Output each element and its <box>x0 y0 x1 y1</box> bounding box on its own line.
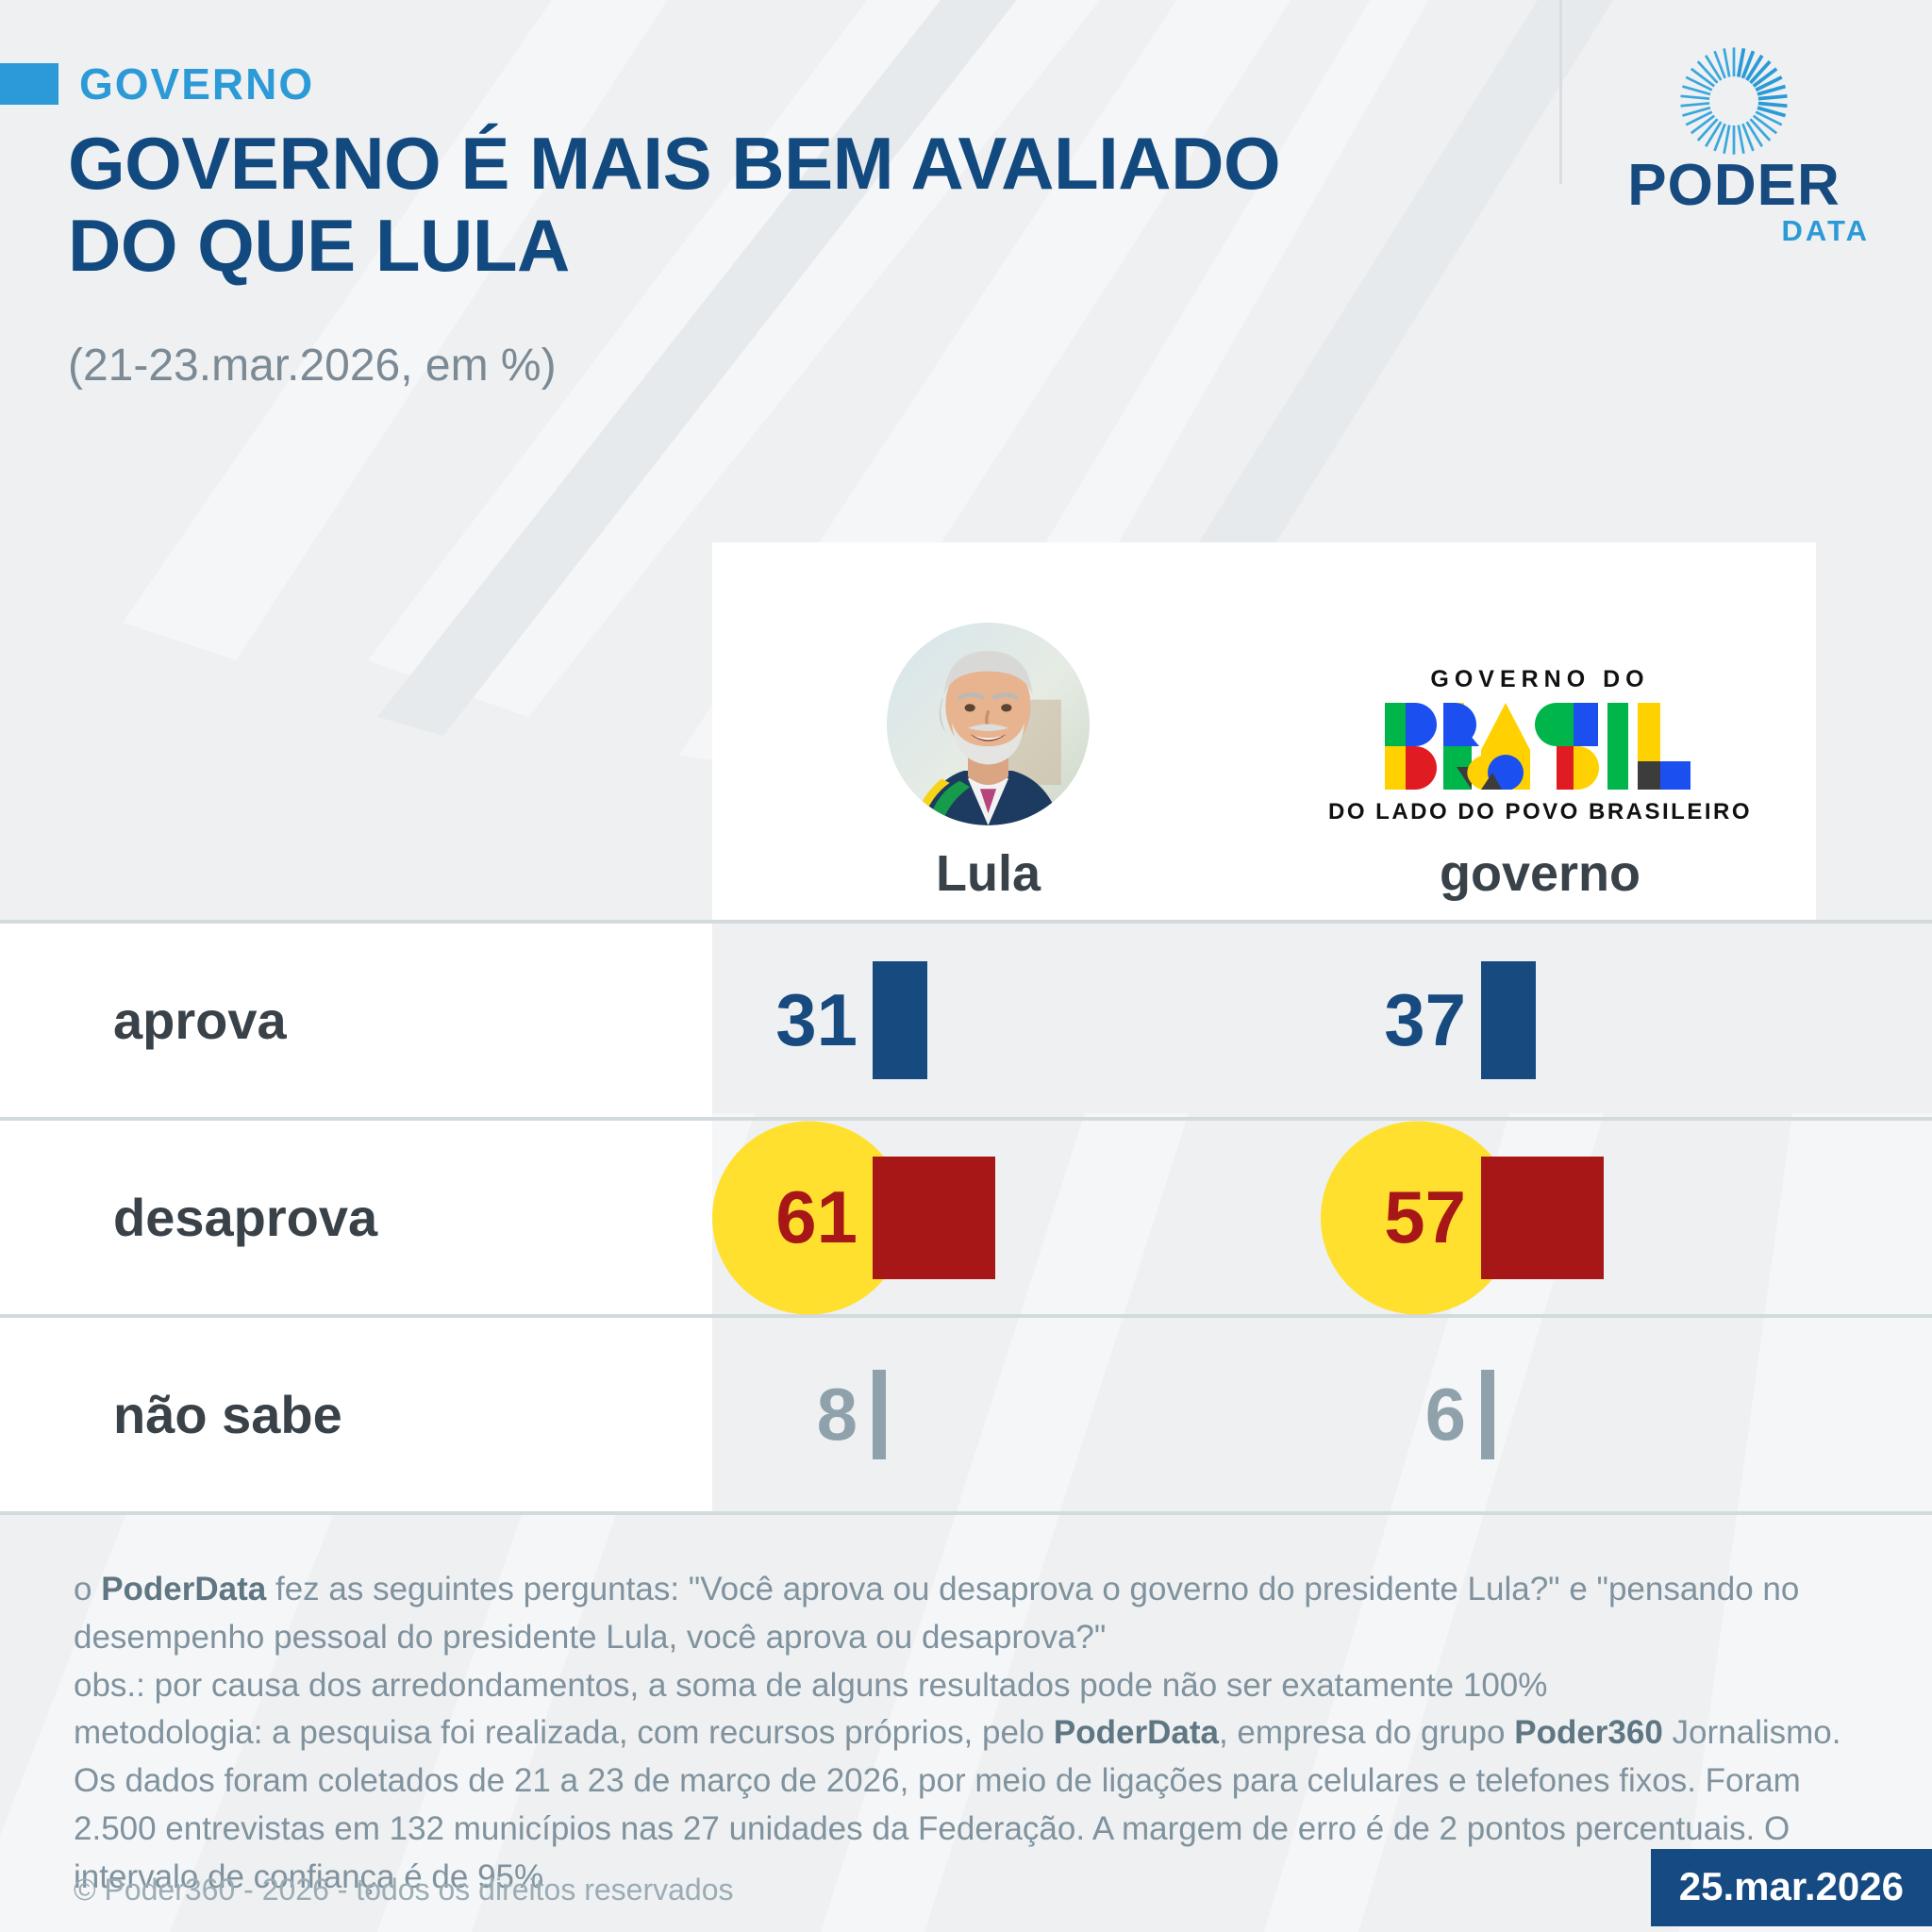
methodology-note: o PoderData fez as seguintes perguntas: … <box>74 1566 1847 1901</box>
note-line1-post: fez as seguintes perguntas: "Você aprova… <box>74 1571 1799 1656</box>
bar-aprova-lula <box>873 961 927 1079</box>
header: GOVERNO GOVERNO É MAIS BEM AVALIADO DO Q… <box>0 0 1932 443</box>
column-header-governo: GOVERNO DO <box>1264 542 1816 920</box>
bar-nao-sabe-lula <box>873 1370 886 1459</box>
poderdata-wordmark: PODER <box>1627 158 1840 214</box>
value-group: 8 <box>712 1318 886 1511</box>
poderdata-subwordmark: DATA <box>1782 214 1871 248</box>
bar-aprova-governo <box>1481 961 1536 1079</box>
cell-aprova-lula: 31 <box>712 924 1321 1117</box>
value-aprova-governo: 37 <box>1321 977 1481 1063</box>
publication-date-badge: 25.mar.2026 <box>1651 1849 1932 1926</box>
column-header-lula: Lula <box>712 542 1264 920</box>
value-desaprova-lula: 61 <box>712 1174 873 1260</box>
radial-burst-icon <box>1663 45 1805 157</box>
kicker: GOVERNO <box>0 58 314 109</box>
page-subtitle: (21-23.mar.2026, em %) <box>68 340 557 391</box>
bar-nao-sabe-governo <box>1481 1370 1494 1459</box>
brasil-logo-top-text: GOVERNO DO <box>1430 666 1649 693</box>
bar-desaprova-governo <box>1481 1157 1604 1279</box>
value-group: 61 <box>712 1121 995 1314</box>
row-label-aprova: aprova <box>0 924 712 1117</box>
value-group: 31 <box>712 924 927 1117</box>
cell-aprova-governo: 37 <box>1321 924 1929 1117</box>
value-group: 37 <box>1321 924 1536 1117</box>
value-desaprova-governo: 57 <box>1321 1174 1481 1260</box>
page-title: GOVERNO É MAIS BEM AVALIADO DO QUE LULA <box>68 123 1294 288</box>
cell-desaprova-lula: 61 <box>712 1121 1321 1314</box>
note-line1-pre: o <box>74 1571 101 1607</box>
brasil-logo-bottom-text: DO LADO DO POVO BRASILEIRO <box>1328 799 1752 825</box>
value-nao-sabe-governo: 6 <box>1321 1372 1481 1457</box>
lula-portrait-photo <box>887 623 1090 825</box>
results-table: Lula GOVERNO DO <box>0 542 1932 1515</box>
brasil-government-logo: GOVERNO DO <box>1328 666 1752 825</box>
bar-desaprova-lula <box>873 1157 995 1279</box>
copyright-text: © Poder360 - 2026 - todos os direitos re… <box>74 1873 734 1907</box>
note-brand-poder360: Poder360 <box>1514 1714 1663 1751</box>
column-label-lula: Lula <box>936 844 1041 903</box>
note-brand-poderdata-2: PoderData <box>1054 1714 1219 1751</box>
column-label-governo: governo <box>1440 844 1641 903</box>
table-header-corner <box>0 542 712 920</box>
value-group: 57 <box>1321 1121 1604 1314</box>
note-line3-c: , empresa do grupo <box>1219 1714 1514 1751</box>
kicker-swatch-icon <box>0 63 58 105</box>
value-nao-sabe-lula: 8 <box>712 1372 873 1457</box>
divider <box>0 1511 1932 1515</box>
table-row: aprova 31 37 <box>0 924 1932 1117</box>
brasil-wordmark-icon <box>1385 703 1696 790</box>
note-line3-a: metodologia: a pesquisa foi realizada, c… <box>74 1714 1054 1751</box>
value-aprova-lula: 31 <box>712 977 873 1063</box>
cell-nao-sabe-governo: 6 <box>1321 1318 1929 1511</box>
kicker-label: GOVERNO <box>79 58 314 109</box>
infographic-page: GOVERNO GOVERNO É MAIS BEM AVALIADO DO Q… <box>0 0 1932 1932</box>
cell-desaprova-governo: 57 <box>1321 1121 1929 1314</box>
note-line2: obs.: por causa dos arredondamentos, a s… <box>74 1667 1547 1704</box>
cell-nao-sabe-lula: 8 <box>712 1318 1321 1511</box>
logo-divider <box>1559 0 1562 184</box>
table-header-card: Lula GOVERNO DO <box>712 542 1816 920</box>
row-label-text: desaprova <box>113 1187 377 1248</box>
value-group: 6 <box>1321 1318 1494 1511</box>
table-row: não sabe 8 6 <box>0 1318 1932 1511</box>
row-label-text: aprova <box>113 990 287 1051</box>
row-label-desaprova: desaprova <box>0 1121 712 1314</box>
table-row: desaprova 61 57 <box>0 1121 1932 1314</box>
note-brand-poderdata: PoderData <box>101 1571 266 1607</box>
row-label-nao-sabe: não sabe <box>0 1318 712 1511</box>
table-header-row: Lula GOVERNO DO <box>0 542 1932 920</box>
row-label-text: não sabe <box>113 1384 342 1445</box>
poderdata-logo: PODER DATA <box>1592 45 1875 248</box>
